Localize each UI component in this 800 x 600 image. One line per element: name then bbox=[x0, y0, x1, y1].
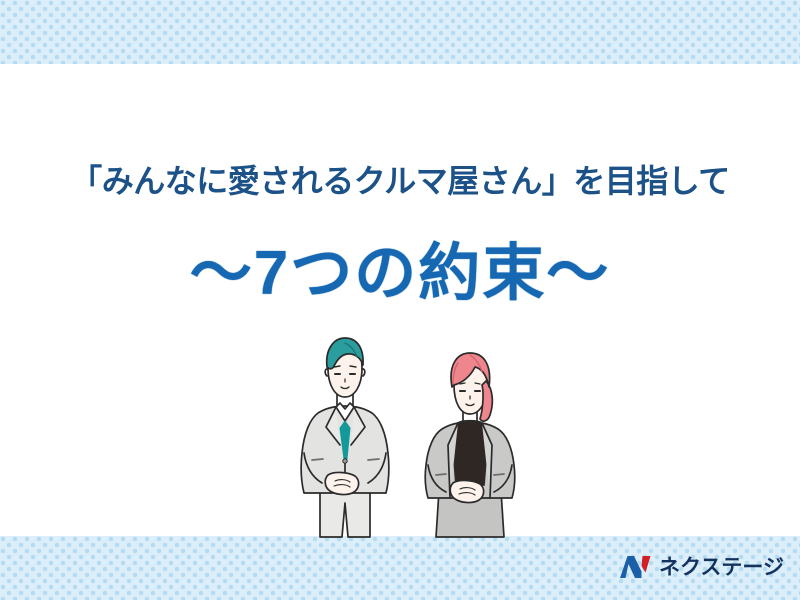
nexstage-logo[interactable]: ネクステージ bbox=[619, 552, 784, 582]
banner-headline: 「みんなに愛されるクルマ屋さん」を目指して bbox=[0, 156, 800, 202]
banner-subtitle: 〜7つの約束〜 bbox=[0, 222, 800, 312]
promo-banner: 「みんなに愛されるクルマ屋さん」を目指して 〜7つの約束〜 bbox=[0, 0, 800, 600]
two-staff-bowing-illustration bbox=[290, 335, 530, 540]
top-decorative-band bbox=[0, 0, 800, 64]
nexstage-logo-text: ネクステージ bbox=[659, 557, 784, 578]
nexstage-n-mark-icon bbox=[619, 554, 652, 580]
